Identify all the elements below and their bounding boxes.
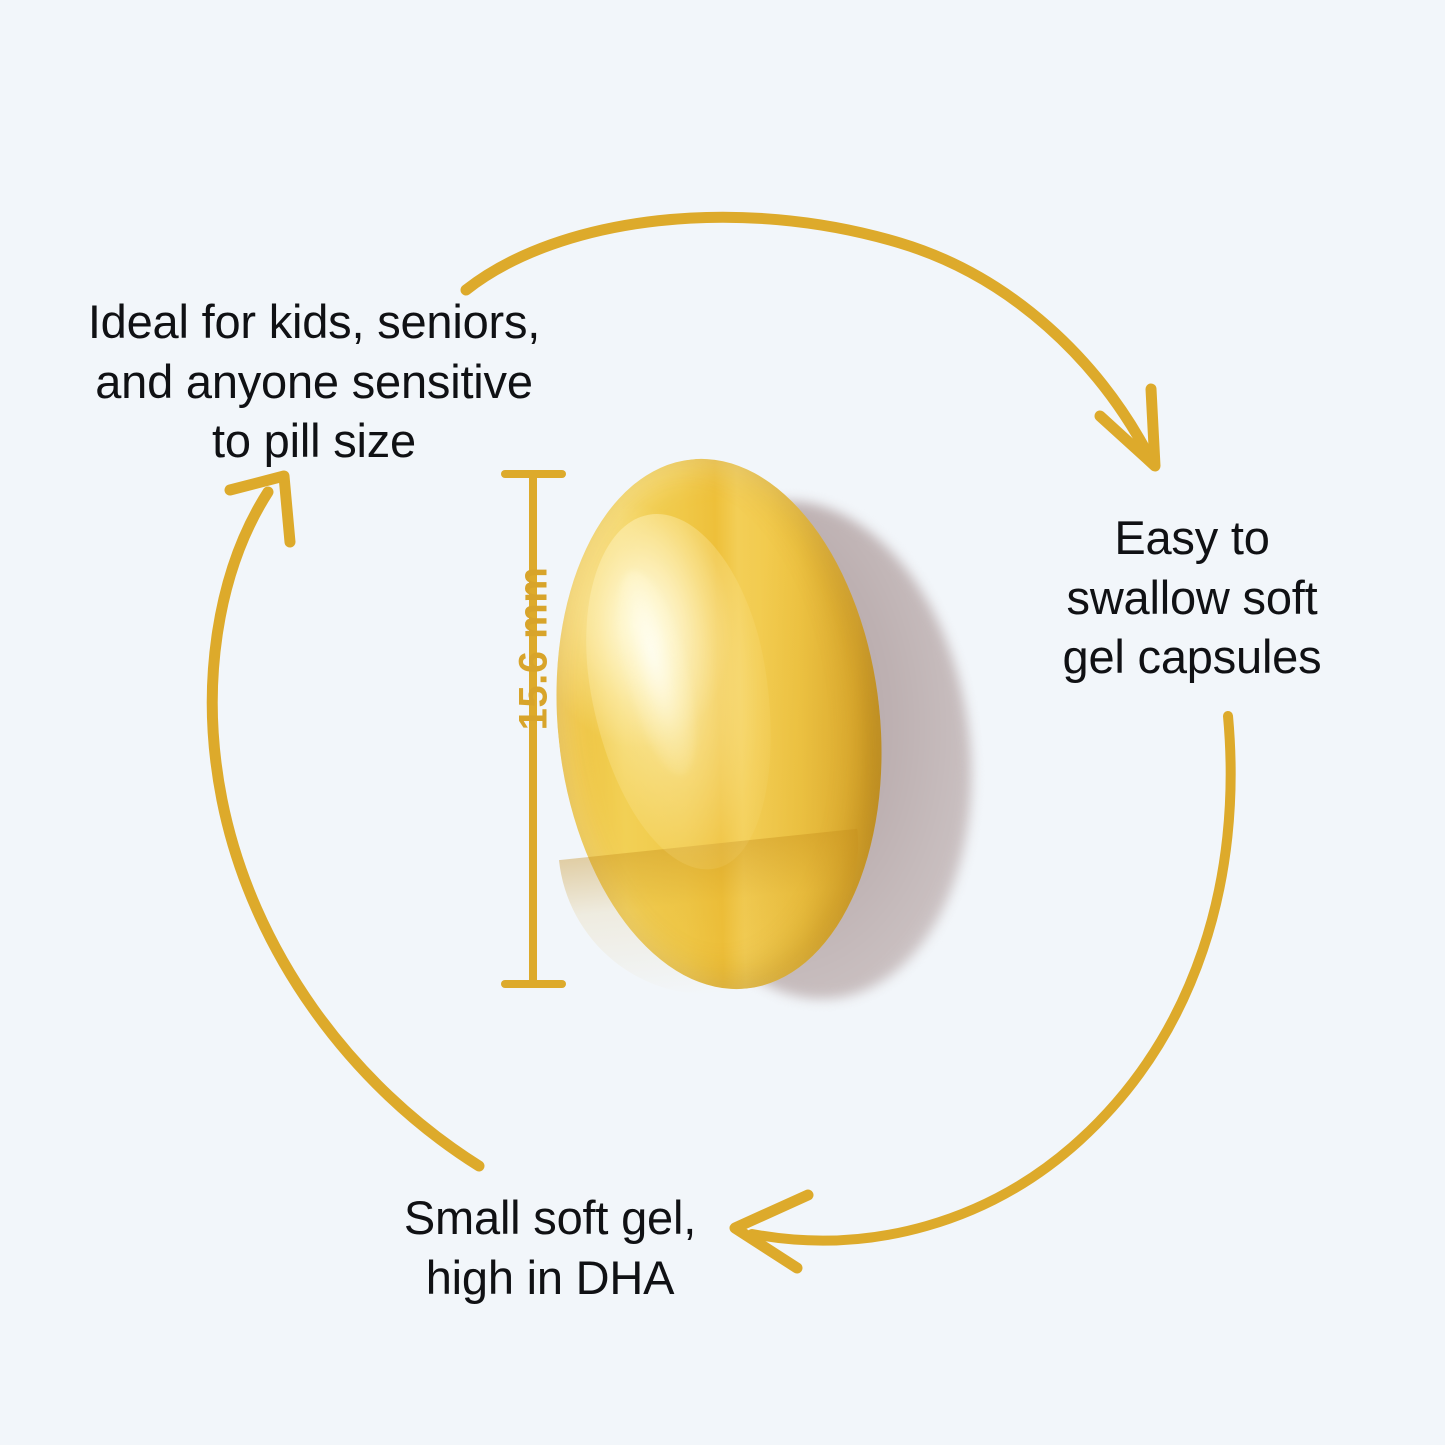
callout-line: and anyone sensitive — [74, 352, 554, 412]
callout-line: to pill size — [74, 411, 554, 471]
callout-line: Easy to — [1032, 508, 1352, 568]
callout-line: swallow soft — [1032, 568, 1352, 628]
dimension-label: 15.6 mm — [512, 539, 557, 759]
softgel-capsule-image — [540, 440, 1000, 1020]
callout-line: gel capsules — [1032, 627, 1352, 687]
callout-line: high in DHA — [380, 1248, 720, 1308]
arrow-left — [212, 476, 479, 1166]
callout-line: Small soft gel, — [380, 1188, 720, 1248]
callout-easy-to-swallow: Easy to swallow soft gel capsules — [1032, 508, 1352, 687]
callout-small-soft-gel: Small soft gel, high in DHA — [380, 1188, 720, 1307]
arrow-top — [466, 217, 1155, 466]
infographic-canvas: 15.6 mm Ideal for kids, seniors, and any… — [0, 0, 1445, 1445]
callout-ideal-for-kids: Ideal for kids, seniors, and anyone sens… — [74, 292, 554, 471]
callout-line: Ideal for kids, seniors, — [74, 292, 554, 352]
